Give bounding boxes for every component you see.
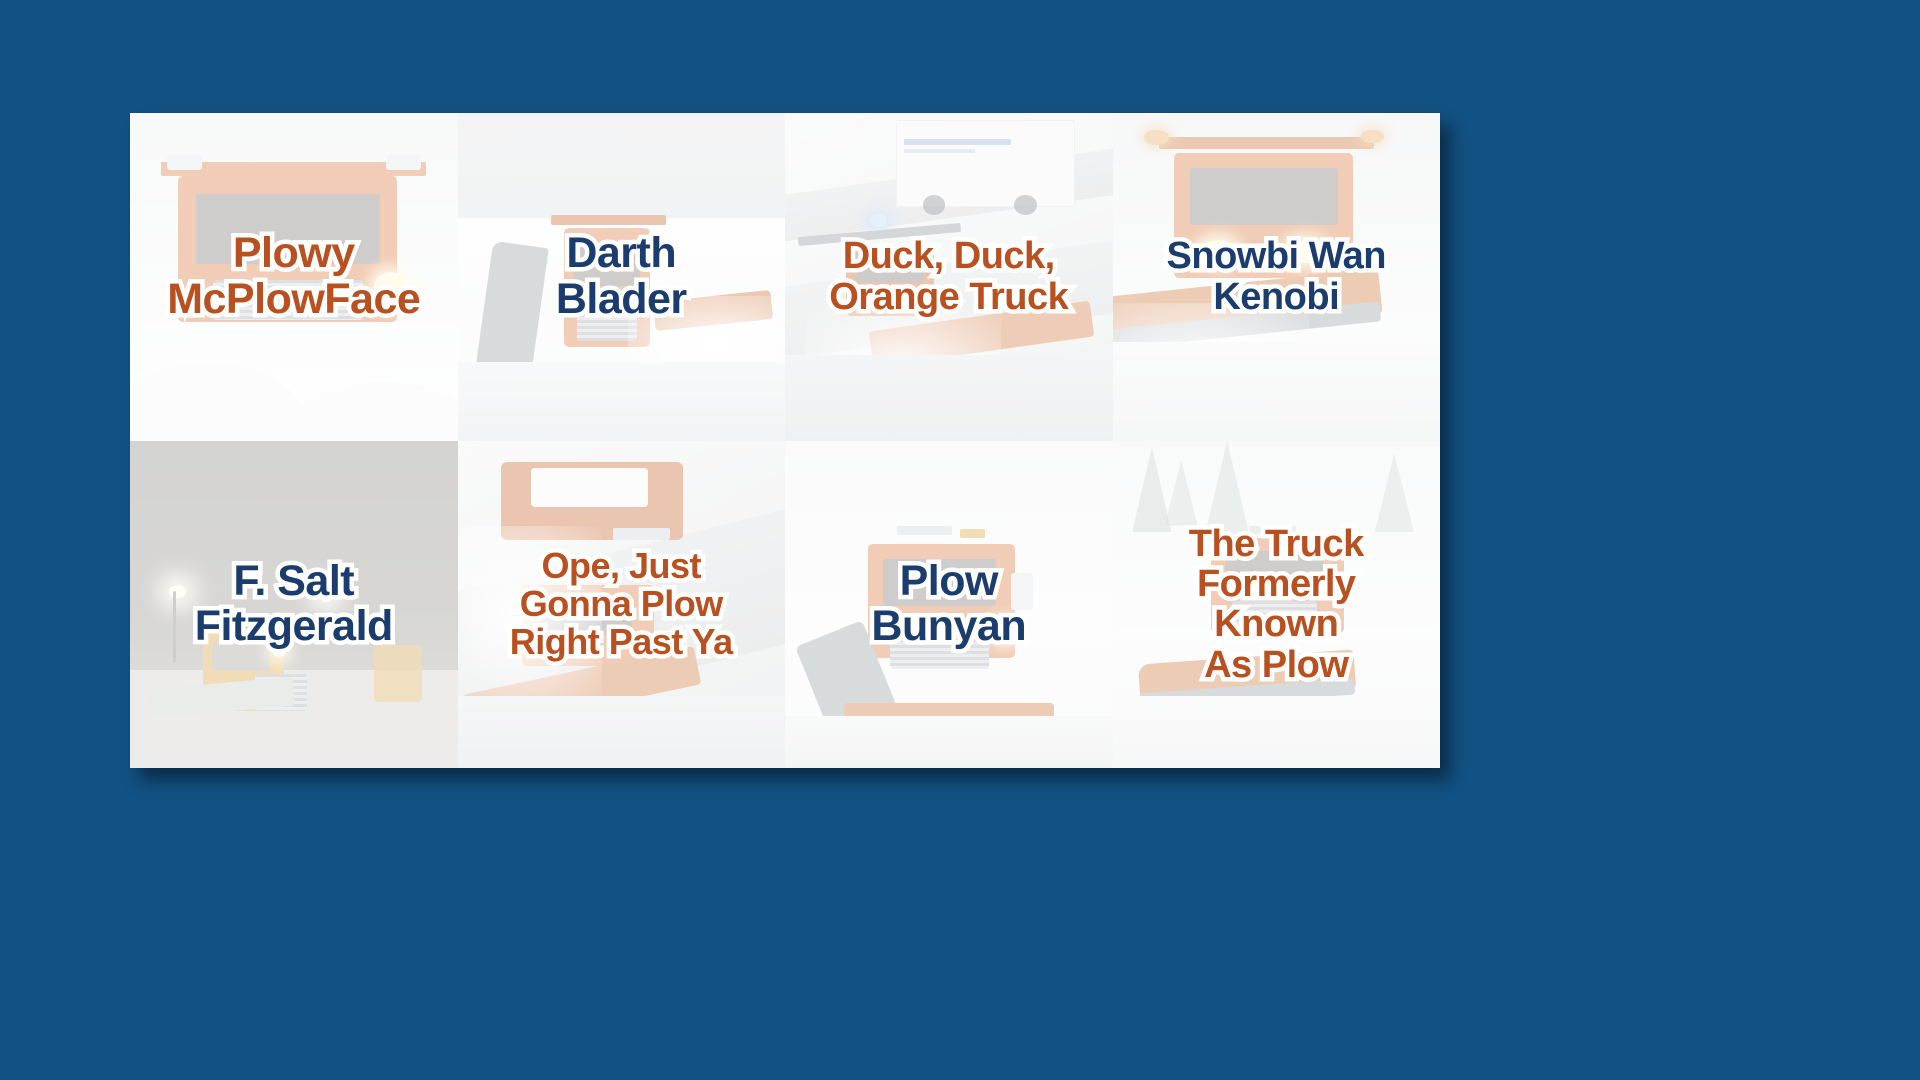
tile-caption-darth-blader: Darth Blader bbox=[548, 231, 695, 322]
caption-line: The Truck bbox=[1189, 524, 1364, 564]
caption-line: Darth bbox=[556, 231, 687, 277]
caption-line: Right Past Ya bbox=[510, 623, 733, 661]
plow-name-gallery: Plowy McPlowFace bbox=[130, 113, 1440, 768]
gallery-tile-f-salt-fitzgerald[interactable]: F. Salt Fitzgerald bbox=[130, 441, 458, 769]
caption-line: Ope, Just bbox=[510, 547, 733, 585]
gallery-tile-plowy-mcplowface[interactable]: Plowy McPlowFace bbox=[130, 113, 458, 441]
caption-line: Bunyan bbox=[871, 604, 1026, 650]
caption-line: Formerly bbox=[1189, 564, 1364, 604]
caption-line: Orange Truck bbox=[829, 277, 1068, 317]
gallery-tile-the-truck-formerly-known-as-plow[interactable]: The Truck Formerly Known As Plow bbox=[1113, 441, 1441, 769]
tile-caption-snowbi-wan-kenobi: Snowbi Wan Kenobi bbox=[1159, 236, 1394, 317]
caption-line: McPlowFace bbox=[167, 277, 420, 323]
gallery-tile-snowbi-wan-kenobi[interactable]: Snowbi Wan Kenobi bbox=[1113, 113, 1441, 441]
tile-caption-the-truck-formerly-known-as-plow: The Truck Formerly Known As Plow bbox=[1181, 524, 1372, 685]
tile-caption-plow-bunyan: Plow Bunyan bbox=[863, 559, 1034, 650]
caption-line: Plowy bbox=[167, 231, 420, 277]
gallery-tile-duck-duck-orange-truck[interactable]: Duck, Duck, Orange Truck bbox=[785, 113, 1113, 441]
caption-line: Snowbi Wan bbox=[1167, 236, 1386, 276]
caption-line: Known bbox=[1189, 604, 1364, 644]
gallery-tile-plow-bunyan[interactable]: Plow Bunyan bbox=[785, 441, 1113, 769]
caption-line: Fitzgerald bbox=[195, 604, 393, 650]
tile-caption-plowy-mcplowface: Plowy McPlowFace bbox=[159, 231, 428, 322]
caption-line: Plow bbox=[871, 559, 1026, 605]
caption-line: Gonna Plow bbox=[510, 585, 733, 623]
caption-line: As Plow bbox=[1189, 645, 1364, 685]
caption-line: Blader bbox=[556, 277, 687, 323]
caption-line: Duck, Duck, bbox=[829, 236, 1068, 276]
gallery-tile-darth-blader[interactable]: Darth Blader bbox=[458, 113, 786, 441]
tile-caption-duck-duck-orange-truck: Duck, Duck, Orange Truck bbox=[821, 236, 1076, 317]
gallery-tile-ope-just-gonna-plow-right-past-ya[interactable]: Ope, Just Gonna Plow Right Past Ya bbox=[458, 441, 786, 769]
tile-caption-f-salt-fitzgerald: F. Salt Fitzgerald bbox=[187, 559, 401, 650]
caption-line: F. Salt bbox=[195, 559, 393, 605]
tile-caption-ope-just-gonna-plow-right-past-ya: Ope, Just Gonna Plow Right Past Ya bbox=[502, 547, 741, 661]
caption-line: Kenobi bbox=[1167, 277, 1386, 317]
page-canvas: Plowy McPlowFace bbox=[0, 0, 1920, 1080]
